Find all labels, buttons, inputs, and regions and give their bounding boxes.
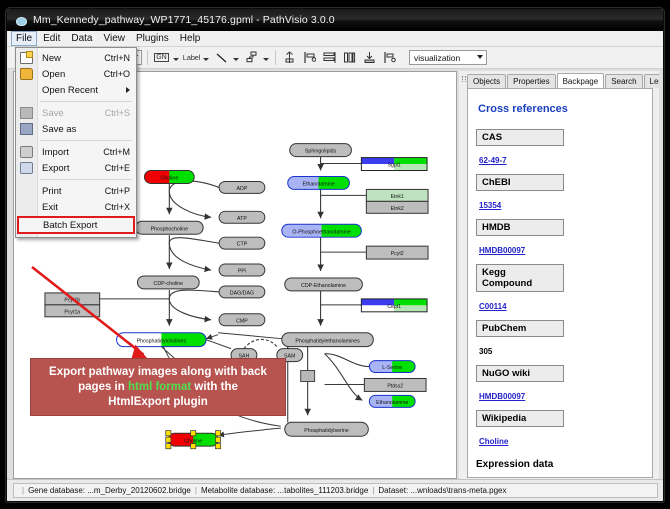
tab-backpage[interactable]: Backpage bbox=[557, 73, 605, 89]
pathway-gene-sgpl1[interactable]: Sgpl1 bbox=[361, 158, 427, 171]
pathway-gene-label: Pcyt1a bbox=[64, 309, 80, 315]
selection-handle[interactable] bbox=[215, 437, 220, 442]
pathway-node-label: Sphingolipids bbox=[305, 149, 337, 155]
status-bar: | Gene database: ...m_Derby_20120602.bri… bbox=[7, 479, 663, 501]
xref-value-hmdb[interactable]: HMDB00097 bbox=[479, 246, 525, 255]
callout-line-1: Export pathway images along with back bbox=[49, 365, 267, 380]
tab-objects[interactable]: Objects bbox=[467, 74, 506, 88]
callout-line-2: pages in html format with the bbox=[78, 380, 238, 395]
pathway-gene-pcyt1b[interactable]: Pcyt1b bbox=[45, 293, 100, 305]
pathway-node-label: Phosphatidylserine bbox=[304, 428, 349, 434]
submenu-arrow-icon bbox=[126, 87, 130, 93]
align-left-icon[interactable] bbox=[301, 49, 318, 66]
toolbar-separator bbox=[147, 50, 148, 65]
menu-item-label: New bbox=[42, 53, 61, 64]
label-dropdown-icon[interactable] bbox=[203, 58, 209, 61]
menu-separator bbox=[40, 179, 132, 180]
pathway-node-ethanolamine[interactable]: Ethanolamine bbox=[288, 176, 350, 189]
pathvisio-icon bbox=[15, 14, 27, 26]
menu-item-label: Save bbox=[42, 108, 64, 119]
menu-item-save: SaveCtrl+S bbox=[16, 105, 136, 121]
pathway-node-label: Phosphatidylcholines bbox=[137, 338, 187, 344]
tab-legend[interactable]: Legend bbox=[644, 74, 659, 88]
pathway-node-cdp-ethanolamine[interactable]: CDP-Ethanolamine bbox=[285, 278, 363, 291]
side-panel-tabs: Objects Properties Backpage Search Legen… bbox=[467, 73, 659, 88]
menu-item-new[interactable]: NewCtrl+N bbox=[16, 50, 136, 66]
distribute-vertical-icon[interactable] bbox=[341, 49, 358, 66]
xref-value-cas[interactable]: 62-49-7 bbox=[479, 156, 507, 165]
expression-data-title: Expression data bbox=[476, 459, 644, 470]
menu-item-label: Save as bbox=[42, 124, 76, 135]
pathway-node-label: CDP-choline bbox=[154, 281, 184, 287]
group-icon[interactable] bbox=[381, 49, 398, 66]
xref-value-nugo-wiki[interactable]: HMDB00097 bbox=[479, 392, 525, 401]
pathway-node-label: ADP bbox=[237, 186, 248, 192]
menu-item-import[interactable]: ImportCtrl+M bbox=[16, 144, 136, 160]
pathway-gene-etnk2[interactable]: Etnk2 bbox=[366, 201, 428, 213]
pathway-node-phosphatidylcholines[interactable]: Phosphatidylcholines bbox=[117, 333, 207, 347]
xref-database-chebi: ChEBI bbox=[476, 174, 564, 191]
application-window: Mm_Kennedy_pathway_WP1771_45176.gpml - P… bbox=[6, 8, 664, 502]
menu-help[interactable]: Help bbox=[175, 31, 206, 46]
tab-properties[interactable]: Properties bbox=[507, 74, 555, 88]
callout-box: Export pathway images along with back pa… bbox=[30, 358, 286, 416]
menu-item-accelerator: Ctrl+O bbox=[104, 69, 130, 79]
file-menu-dropdown[interactable]: NewCtrl+NOpenCtrl+OOpen RecentSaveCtrl+S… bbox=[15, 47, 137, 238]
pathway-gene-label: Pcyt1b bbox=[64, 297, 80, 303]
cross-references-list: CAS62-49-7ChEBI15354HMDBHMDB00097Kegg Co… bbox=[476, 129, 644, 455]
menu-item-accelerator: Ctrl+N bbox=[104, 53, 130, 63]
save-disk-icon bbox=[20, 107, 33, 119]
selection-handle[interactable] bbox=[215, 444, 220, 449]
menu-file[interactable]: File bbox=[11, 31, 37, 46]
menu-item-label: Print bbox=[42, 186, 62, 197]
pathway-node-label: O-Phosphoethanolamine bbox=[292, 229, 350, 235]
pathway-gene-etnk1[interactable]: Etnk1 bbox=[366, 189, 428, 201]
pathway-node-choline[interactable]: Choline bbox=[144, 171, 194, 184]
status-gene-database: Gene database: ...m_Derby_20120602.bridg… bbox=[28, 486, 191, 495]
menu-item-label: Open bbox=[42, 69, 65, 80]
selection-handle[interactable] bbox=[166, 444, 171, 449]
new-document-icon bbox=[20, 52, 33, 64]
pathway-node-label: Ethanolamine bbox=[376, 400, 408, 406]
selection-handle[interactable] bbox=[166, 431, 171, 436]
pathway-node-label: CTP bbox=[237, 242, 248, 248]
menu-item-print[interactable]: PrintCtrl+P bbox=[16, 183, 136, 199]
side-panel: Objects Properties Backpage Search Legen… bbox=[459, 71, 659, 479]
xref-value-chebi[interactable]: 15354 bbox=[479, 201, 501, 210]
pathway-node-label: PPi bbox=[238, 269, 246, 275]
title-bar: Mm_Kennedy_pathway_WP1771_45176.gpml - P… bbox=[7, 9, 663, 31]
visualization-value: visualization bbox=[414, 53, 460, 63]
datanode-dropdown-icon[interactable] bbox=[173, 58, 179, 61]
panel-grip[interactable] bbox=[461, 73, 466, 477]
xref-database-pubchem: PubChem bbox=[476, 320, 564, 337]
line-dropdown-icon[interactable] bbox=[233, 58, 239, 61]
xref-database-hmdb: HMDB bbox=[476, 219, 564, 236]
pathway-node-ethanolamine2[interactable]: Ethanolamine bbox=[369, 395, 415, 407]
pathway-node-atp[interactable]: ATP bbox=[219, 211, 265, 223]
pathway-node-sphingolipids[interactable]: Sphingolipids bbox=[290, 144, 352, 157]
selection-handle[interactable] bbox=[166, 437, 171, 442]
tab-search[interactable]: Search bbox=[605, 74, 642, 88]
menu-item-batch-export[interactable]: Batch Export bbox=[17, 216, 135, 234]
menu-item-accelerator: Ctrl+X bbox=[105, 202, 130, 212]
xref-database-nugo-wiki: NuGO wiki bbox=[476, 365, 564, 382]
callout-line-2-a: pages in bbox=[78, 381, 128, 393]
menu-item-open-recent[interactable]: Open Recent bbox=[16, 82, 136, 98]
pathway-node-adp[interactable]: ADP bbox=[219, 181, 265, 193]
line-tool-icon[interactable] bbox=[213, 49, 230, 66]
stack-icon[interactable] bbox=[361, 49, 378, 66]
menu-item-save-as[interactable]: Save as bbox=[16, 121, 136, 137]
menu-separator bbox=[40, 140, 132, 141]
visualization-combo[interactable]: visualization bbox=[409, 50, 487, 65]
pathway-node-ctp[interactable]: CTP bbox=[219, 237, 265, 249]
selection-handle[interactable] bbox=[215, 431, 220, 436]
menu-item-exit[interactable]: ExitCtrl+X bbox=[16, 199, 136, 215]
menu-item-label: Export bbox=[42, 163, 69, 174]
menu-item-open[interactable]: OpenCtrl+O bbox=[16, 66, 136, 82]
menu-view[interactable]: View bbox=[98, 31, 130, 46]
pathway-node-label: Phosphatidylethanolamines bbox=[295, 338, 360, 344]
toolbar-separator-2 bbox=[275, 50, 276, 65]
export-icon bbox=[20, 162, 33, 174]
menu-item-label: Exit bbox=[42, 202, 58, 213]
pathway-gene-label: Etnk1 bbox=[391, 194, 404, 200]
xref-database-cas: CAS bbox=[476, 129, 564, 146]
datanode-tool-icon[interactable]: GN bbox=[153, 49, 170, 66]
callout-line-2-b: with the bbox=[191, 381, 238, 393]
pathway-gene-label: Cept1 bbox=[387, 304, 401, 310]
pathway-node-phosphatidylserine[interactable]: Phosphatidylserine bbox=[285, 422, 369, 436]
selection-handle[interactable] bbox=[191, 444, 196, 449]
menu-item-label: Open Recent bbox=[42, 85, 98, 96]
cross-references-title: Cross references bbox=[478, 103, 644, 115]
pathway-node-dagdag[interactable]: DAG/DAG bbox=[219, 286, 265, 298]
menu-item-accelerator: Ctrl+E bbox=[105, 163, 130, 173]
pathway-node-cmp[interactable]: CMP bbox=[219, 314, 265, 326]
open-folder-icon bbox=[20, 68, 33, 80]
pathway-node-phosphocholine[interactable]: Phosphocholine bbox=[135, 221, 203, 234]
pathway-node-label: ATP bbox=[237, 216, 247, 222]
menu-item-export[interactable]: ExportCtrl+E bbox=[16, 160, 136, 176]
backpage-content[interactable]: Cross references CAS62-49-7ChEBI15354HMD… bbox=[467, 88, 653, 478]
callout-line-3: HtmlExport plugin bbox=[108, 395, 208, 410]
pathway-node-phosphatidylethanolamines[interactable]: Phosphatidylethanolamines bbox=[282, 333, 374, 347]
menu-item-accelerator: Ctrl+S bbox=[105, 108, 130, 118]
menu-separator bbox=[40, 101, 132, 102]
menu-item-label: Import bbox=[42, 147, 69, 158]
pathway-gene-label: Pcyt2 bbox=[391, 251, 404, 257]
label-tool-icon[interactable]: Label bbox=[183, 49, 200, 66]
save-as-icon bbox=[20, 123, 33, 135]
status-dataset: Dataset: ...wnloads\trans-meta.pgex bbox=[378, 486, 506, 495]
pathway-node-label: Choline bbox=[160, 176, 178, 182]
xref-value-pubchem: 305 bbox=[479, 347, 492, 356]
xref-value-kegg-compound[interactable]: C00114 bbox=[479, 302, 507, 311]
pathway-node-o-phosphoethanolamine[interactable]: O-Phosphoethanolamine bbox=[282, 224, 362, 237]
pathway-gene-label: Ptdss2 bbox=[387, 383, 403, 389]
pathway-gene-ptdss2[interactable]: Ptdss2 bbox=[364, 378, 426, 391]
chevron-down-icon-2 bbox=[477, 55, 483, 59]
pathway-node-label: Ethanolamine bbox=[302, 182, 334, 188]
xref-database-kegg-compound: Kegg Compound bbox=[476, 264, 564, 292]
status-bar-text: | Gene database: ...m_Derby_20120602.bri… bbox=[13, 483, 658, 498]
menu-data[interactable]: Data bbox=[66, 31, 97, 46]
window-title: Mm_Kennedy_pathway_WP1771_45176.gpml - P… bbox=[33, 14, 335, 26]
pathway-gene-cept1[interactable]: Cept1 bbox=[361, 299, 427, 312]
menu-item-accelerator: Ctrl+M bbox=[103, 147, 130, 157]
pathway-node-label: Phosphocholine bbox=[151, 226, 189, 232]
pathway-gene-label: Sgpl1 bbox=[388, 163, 401, 169]
pathway-node-choline-selected[interactable]: Choline bbox=[166, 431, 221, 449]
anchor-dropdown-icon[interactable] bbox=[263, 58, 269, 61]
pathway-gene-pcyt2[interactable]: Pcyt2 bbox=[366, 246, 428, 259]
xref-database-wikipedia: Wikipedia bbox=[476, 410, 564, 427]
callout-highlight: html format bbox=[128, 381, 191, 393]
pathway-gene-pcyt1a[interactable]: Pcyt1a bbox=[45, 305, 100, 317]
menu-item-label: Batch Export bbox=[43, 220, 97, 231]
align-center-icon[interactable] bbox=[281, 49, 298, 66]
pathway-node-ppi[interactable]: PPi bbox=[219, 264, 265, 276]
pathway-node-label: L-Serine bbox=[382, 365, 402, 371]
pathway-node-label: CDP-Ethanolamine bbox=[301, 283, 346, 289]
menu-edit[interactable]: Edit bbox=[38, 31, 65, 46]
pathway-node-l-serine[interactable]: L-Serine bbox=[369, 361, 415, 373]
pathway-node-label: DAG/DAG bbox=[230, 291, 254, 297]
menu-plugins[interactable]: Plugins bbox=[131, 31, 174, 46]
menu-bar: File Edit Data View Plugins Help bbox=[7, 31, 663, 47]
import-icon bbox=[20, 146, 33, 158]
distribute-horizontal-icon[interactable] bbox=[321, 49, 338, 66]
pathway-gene-label: Etnk2 bbox=[391, 206, 404, 212]
pathway-node-cdp-choline[interactable]: CDP-choline bbox=[137, 276, 199, 289]
status-metabolite-database: Metabolite database: ...tabolites_111203… bbox=[201, 486, 368, 495]
menu-item-accelerator: Ctrl+P bbox=[105, 186, 130, 196]
screen-root: Mm_Kennedy_pathway_WP1771_45176.gpml - P… bbox=[0, 0, 670, 509]
xref-value-wikipedia[interactable]: Choline bbox=[479, 437, 508, 446]
anchor-tool-icon[interactable] bbox=[243, 49, 260, 66]
pathway-node-label: CMP bbox=[236, 318, 248, 324]
selection-handle[interactable] bbox=[191, 431, 196, 436]
